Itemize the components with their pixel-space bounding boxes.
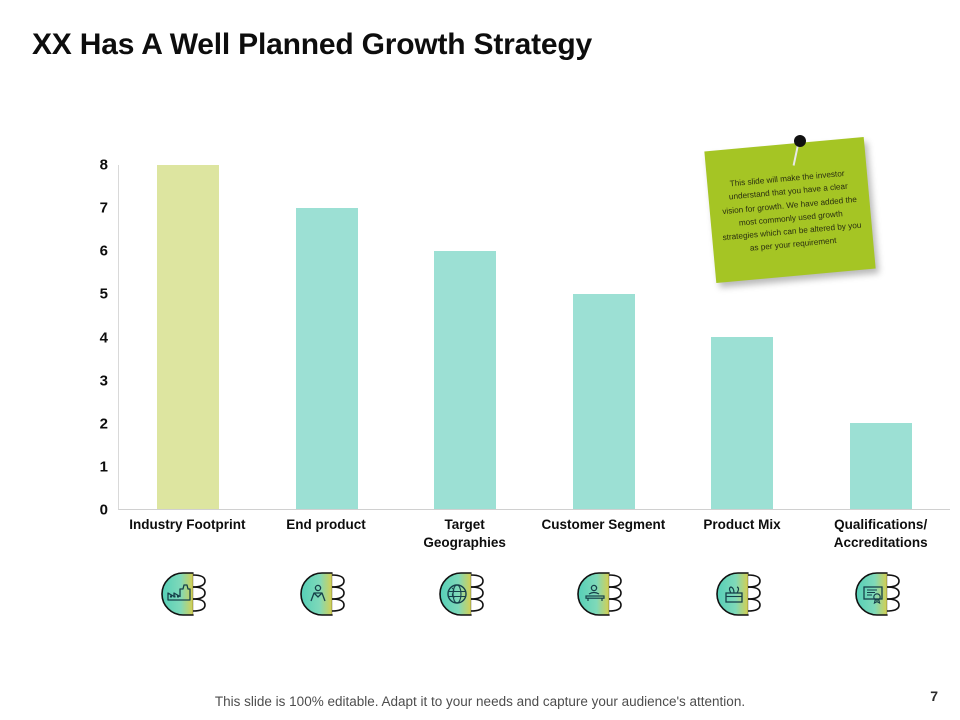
x-axis-category-labels: Industry FootprintEnd productTargetGeogr… — [118, 516, 950, 552]
product-handshake-icon[interactable] — [294, 568, 358, 620]
category-label-line: Geographies — [397, 534, 532, 552]
category-label: Industry Footprint — [118, 516, 257, 552]
y-axis: 876543210 — [70, 165, 112, 510]
category-label: TargetGeographies — [395, 516, 534, 552]
bar-slot — [258, 165, 397, 509]
icon-slot — [118, 568, 257, 620]
sticky-note-text: This slide will make the investor unders… — [717, 166, 864, 258]
category-label: End product — [257, 516, 396, 552]
category-label: Product Mix — [673, 516, 812, 552]
bar-slot — [535, 165, 674, 509]
bar[interactable] — [850, 423, 912, 509]
factory-icon[interactable] — [155, 568, 219, 620]
category-label: Customer Segment — [534, 516, 673, 552]
category-label-line: Qualifications/ — [813, 516, 948, 534]
slide-root: XX Has A Well Planned Growth Strategy 87… — [0, 0, 960, 720]
product-box-icon[interactable] — [710, 568, 774, 620]
category-label-line: End product — [259, 516, 394, 534]
globe-icon[interactable] — [433, 568, 497, 620]
y-tick-1: 1 — [70, 458, 108, 475]
bar[interactable] — [434, 251, 496, 509]
bar[interactable] — [296, 208, 358, 509]
icon-slot — [811, 568, 950, 620]
category-label-line: Industry Footprint — [120, 516, 255, 534]
page-number: 7 — [930, 688, 938, 704]
icon-row — [118, 568, 950, 620]
category-label-line: Customer Segment — [536, 516, 671, 534]
bar[interactable] — [711, 337, 773, 509]
bar-slot — [396, 165, 535, 509]
icon-slot — [257, 568, 396, 620]
icon-slot — [395, 568, 534, 620]
bar[interactable] — [157, 165, 219, 509]
bar-slot — [119, 165, 258, 509]
y-tick-0: 0 — [70, 502, 108, 519]
customer-person-icon[interactable] — [571, 568, 635, 620]
category-label-line: Accreditations — [813, 534, 948, 552]
sticky-note-group: This slide will make the investor unders… — [706, 132, 886, 292]
category-label-line: Target — [397, 516, 532, 534]
y-tick-5: 5 — [70, 286, 108, 303]
y-tick-7: 7 — [70, 200, 108, 217]
y-tick-3: 3 — [70, 372, 108, 389]
page-title: XX Has A Well Planned Growth Strategy — [32, 28, 592, 62]
bar[interactable] — [573, 294, 635, 509]
certificate-icon[interactable] — [849, 568, 913, 620]
category-label-line: Product Mix — [675, 516, 810, 534]
y-tick-2: 2 — [70, 415, 108, 432]
y-tick-6: 6 — [70, 243, 108, 260]
y-tick-4: 4 — [70, 329, 108, 346]
icon-slot — [534, 568, 673, 620]
footer-note: This slide is 100% editable. Adapt it to… — [0, 694, 960, 709]
pin-head-icon — [794, 135, 806, 147]
icon-slot — [673, 568, 812, 620]
y-tick-8: 8 — [70, 157, 108, 174]
category-label: Qualifications/Accreditations — [811, 516, 950, 552]
sticky-note: This slide will make the investor unders… — [704, 137, 875, 283]
